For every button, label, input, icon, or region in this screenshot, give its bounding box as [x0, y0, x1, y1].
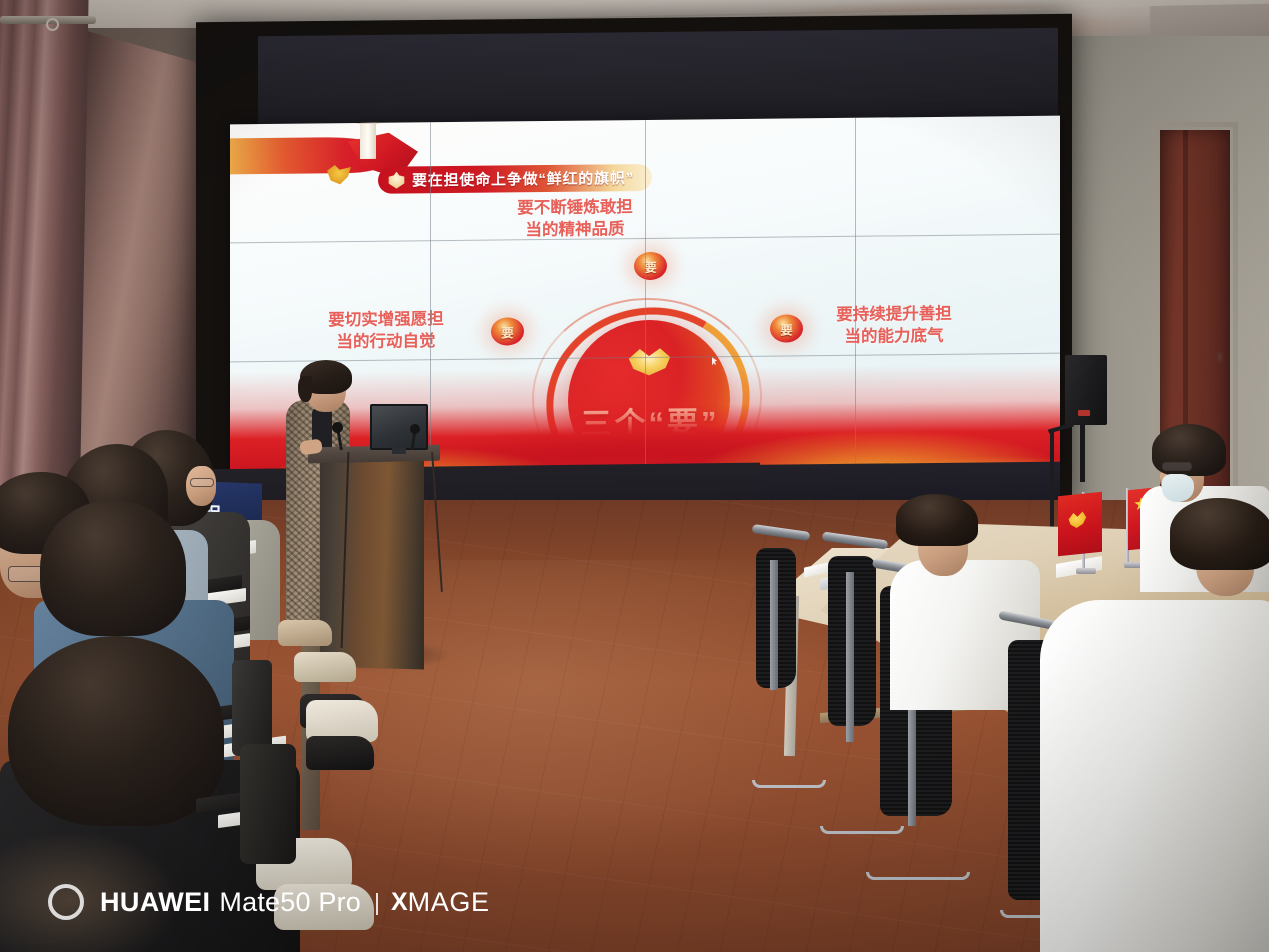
window-curtain — [0, 0, 89, 520]
slide-node-left: 要切实增强愿担 当的行动自觉 — [302, 308, 470, 354]
presenter-hair-side — [298, 376, 312, 402]
monitor-stand — [392, 448, 406, 454]
chair-post — [770, 560, 778, 690]
speaker-mount — [1080, 424, 1085, 482]
party-podium-icon — [388, 172, 405, 189]
slide-node-top: 要不断锤炼敢担 当的精神品质 — [485, 196, 665, 242]
speaking-podium — [320, 451, 424, 670]
cpc-party-flag — [1058, 492, 1102, 557]
face-mask-icon — [1162, 474, 1194, 502]
chair-sled — [820, 826, 904, 834]
slide-badge-right-label: 要 — [780, 319, 793, 338]
microphone-head-icon — [410, 424, 420, 434]
attendee-torso — [1040, 600, 1269, 952]
wall-mark — [1216, 350, 1224, 364]
slide-title: 要在担使命上争做“鲜红的旗帜” — [412, 167, 634, 190]
speaker-logo-icon — [1078, 410, 1090, 416]
video-wall-seam-v — [855, 118, 856, 470]
slide-badge-right: 要 — [770, 314, 803, 342]
attendee-hair — [8, 636, 224, 826]
slide-node-left-line1: 要切实增强愿担 — [302, 308, 470, 332]
slide-node-top-line1: 要不断锤炼敢担 — [485, 196, 665, 220]
video-wall-seam-v — [430, 122, 431, 474]
curtain-ring-icon — [46, 18, 59, 31]
slide-badge-top: 要 — [634, 252, 667, 280]
chair-post — [846, 572, 854, 742]
microphone-head-icon — [332, 422, 343, 433]
photo-canvas: 要在担使命上争做“鲜红的旗帜” 要不断锤炼敢担 当的精神品质 要 要切实增强愿担… — [0, 0, 1269, 952]
eyeglasses-icon — [1162, 462, 1192, 471]
shoe — [278, 620, 332, 646]
slide-title-pill: 要在担使命上争做“鲜红的旗帜” — [378, 164, 652, 194]
slide-node-right: 要持续提升善担 当的能力底气 — [810, 303, 978, 349]
shoe — [306, 736, 374, 770]
shoe — [294, 652, 356, 682]
attendee-leg — [240, 744, 296, 864]
flag-base — [1076, 568, 1096, 574]
slide-badge-left: 要 — [491, 317, 524, 345]
monument-icon — [360, 121, 376, 159]
attendee-hair — [896, 494, 978, 546]
slide-badge-top-label: 要 — [644, 256, 657, 275]
slide-node-right-line2: 当的能力底气 — [810, 325, 978, 349]
slide-node-right-line1: 要持续提升善担 — [810, 303, 978, 327]
attendee-leg — [232, 660, 272, 756]
attendee-hair — [40, 500, 186, 636]
slide-badge-left-label: 要 — [501, 322, 514, 341]
video-wall-screen[interactable]: 要在担使命上争做“鲜红的旗帜” 要不断锤炼敢担 当的精神品质 要 要切实增强愿担… — [230, 116, 1060, 477]
slide-node-left-line2: 当的行动自觉 — [302, 330, 470, 354]
shoe — [274, 884, 374, 930]
video-wall-seam-v — [645, 120, 646, 472]
attendee-hair — [1170, 498, 1269, 570]
chair-sled — [866, 872, 970, 880]
eyeglasses-icon — [190, 478, 214, 487]
hammer-sickle-icon — [1067, 509, 1087, 529]
chair-sled — [752, 780, 826, 788]
